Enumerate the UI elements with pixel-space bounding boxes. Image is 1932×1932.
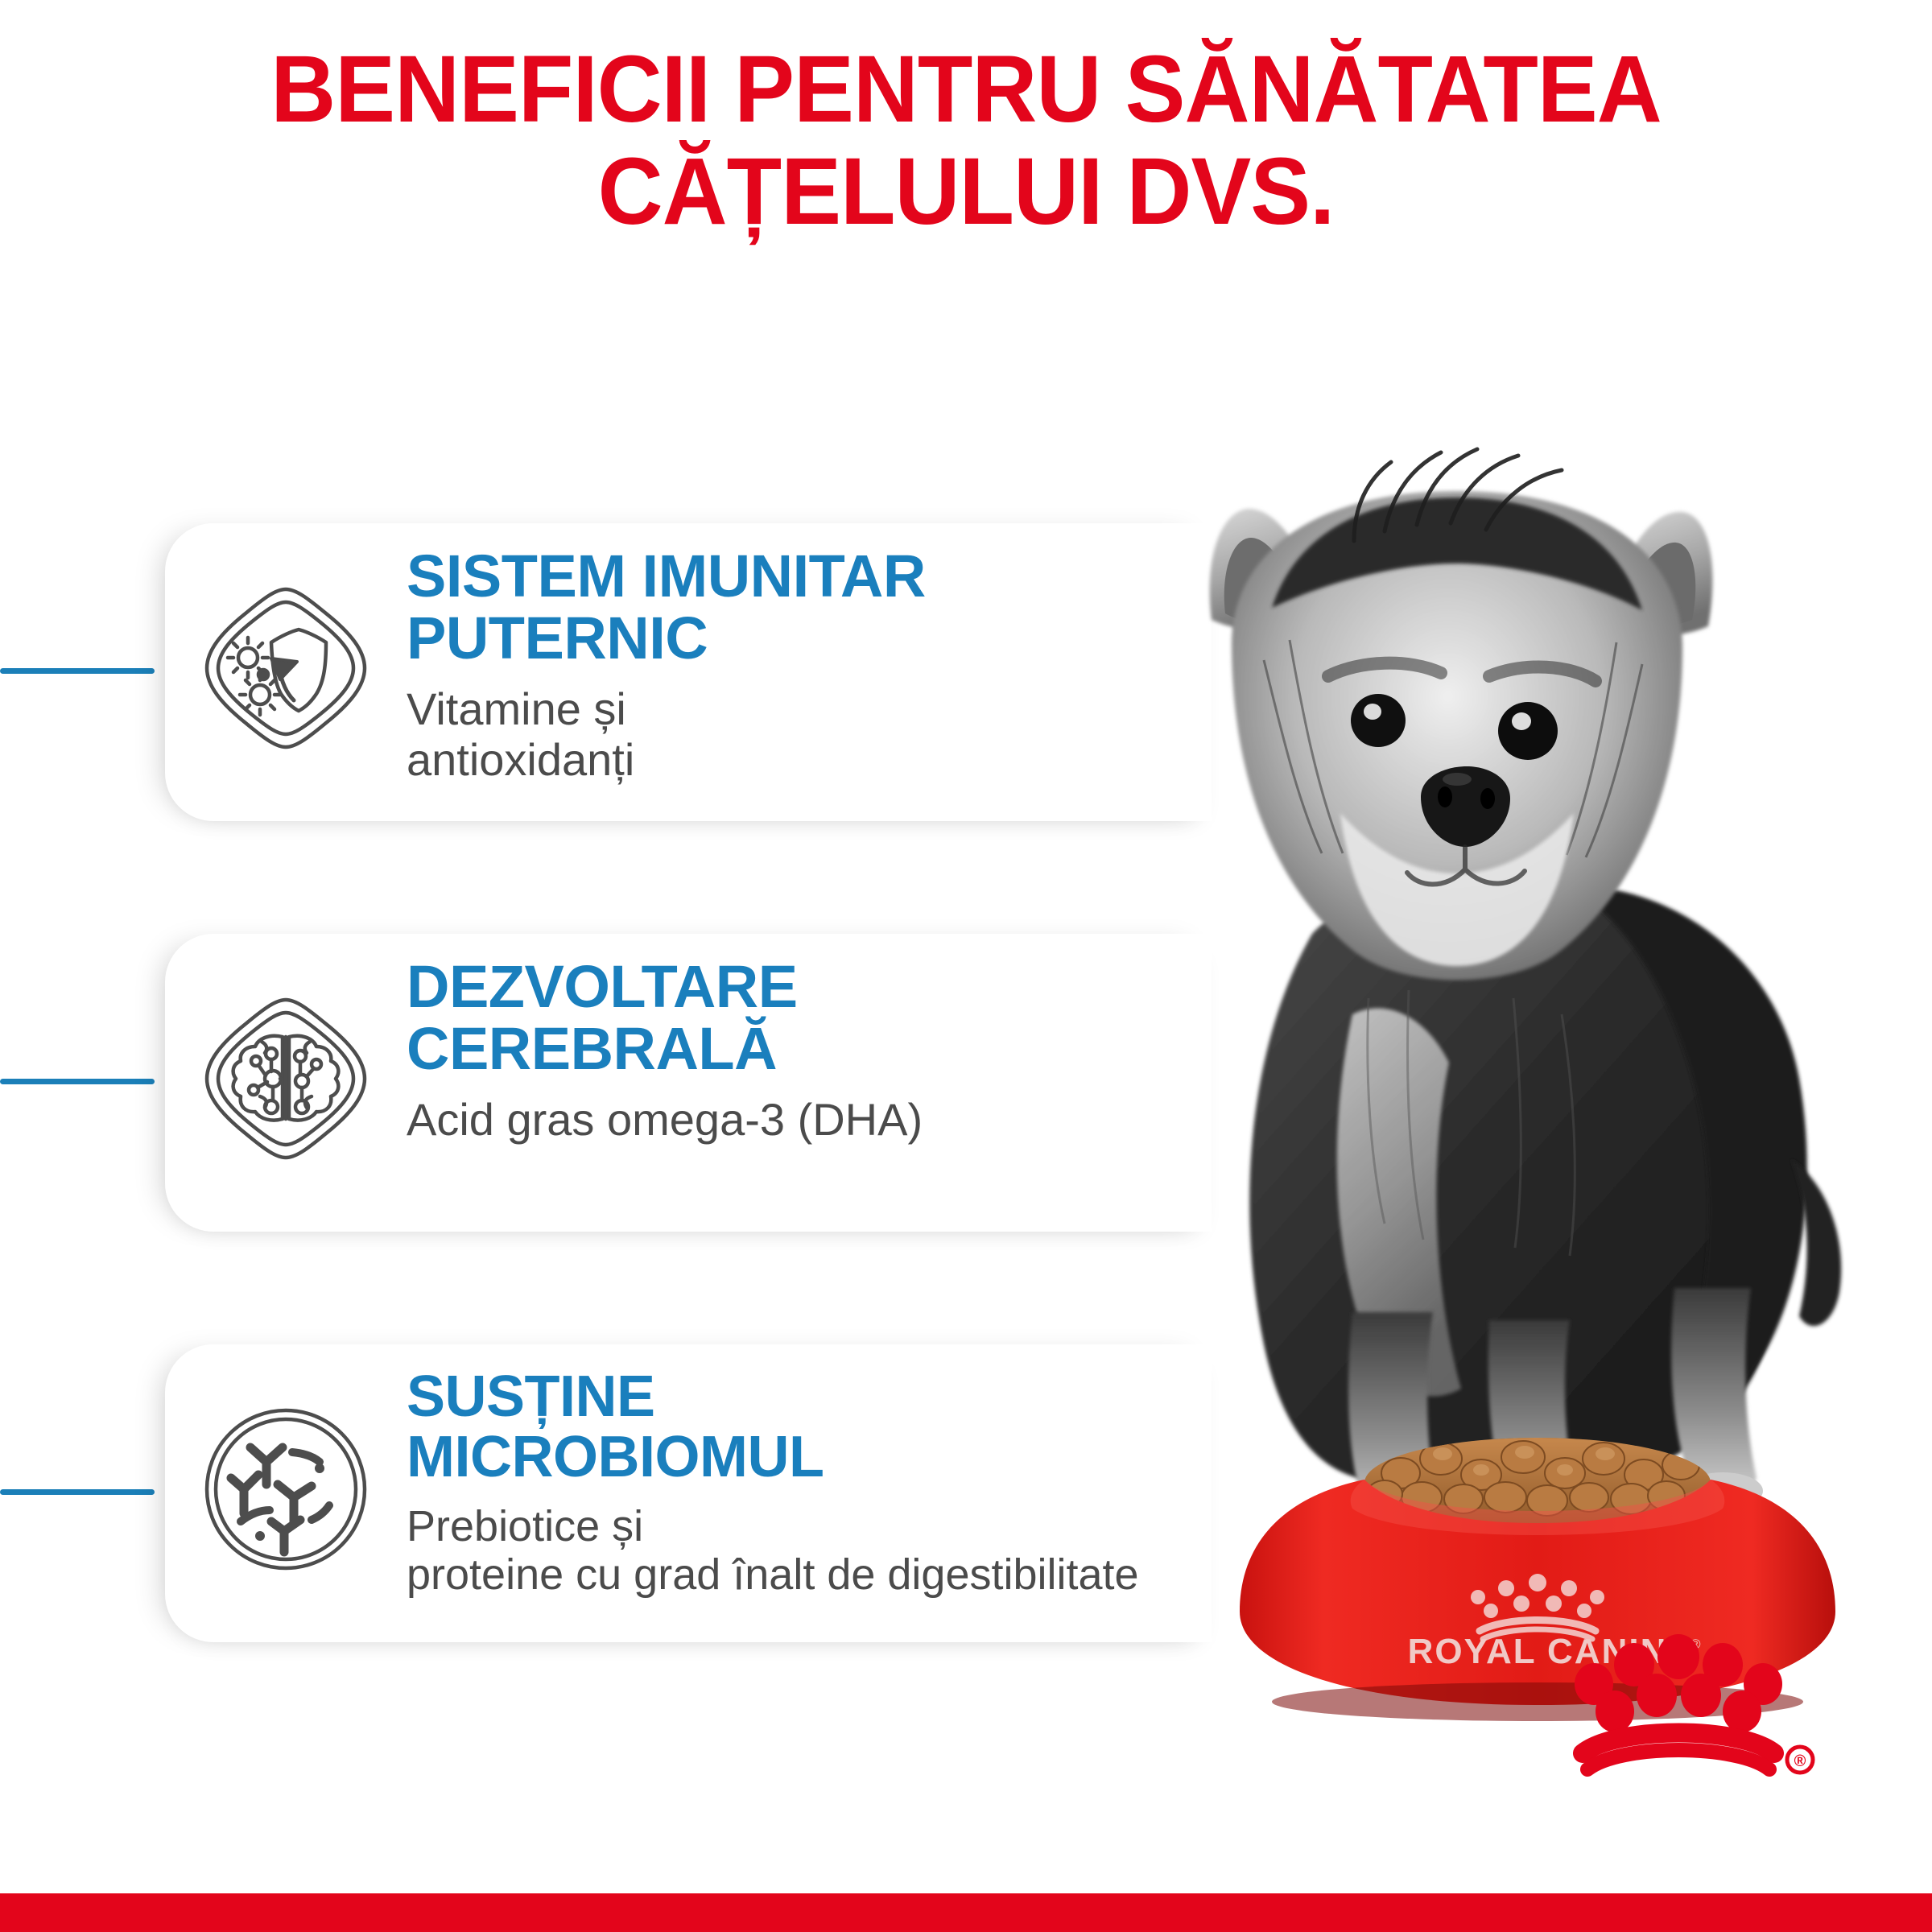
connector-line-1 (0, 668, 155, 674)
page-title-line-1: BENEFICII PENTRU SĂNĂTATEA (179, 39, 1754, 141)
bottom-red-bar (0, 1893, 1932, 1932)
connector-line-2 (0, 1079, 155, 1084)
crown-arc-inner (1587, 1750, 1769, 1769)
immune-shield-icon (197, 580, 374, 757)
registered-mark-icon: ® (1787, 1747, 1813, 1773)
connector-line-3 (0, 1489, 155, 1495)
brain-icon (197, 990, 374, 1167)
svg-text:®: ® (1794, 1752, 1806, 1770)
page-title-line-2: CĂȚELULUI DVS. (179, 141, 1754, 243)
microbiome-icon (197, 1401, 374, 1578)
page-title: BENEFICII PENTRU SĂNĂTATEA CĂȚELULUI DVS… (0, 39, 1932, 244)
royal-canin-crown-logo: ® (1570, 1626, 1835, 1799)
